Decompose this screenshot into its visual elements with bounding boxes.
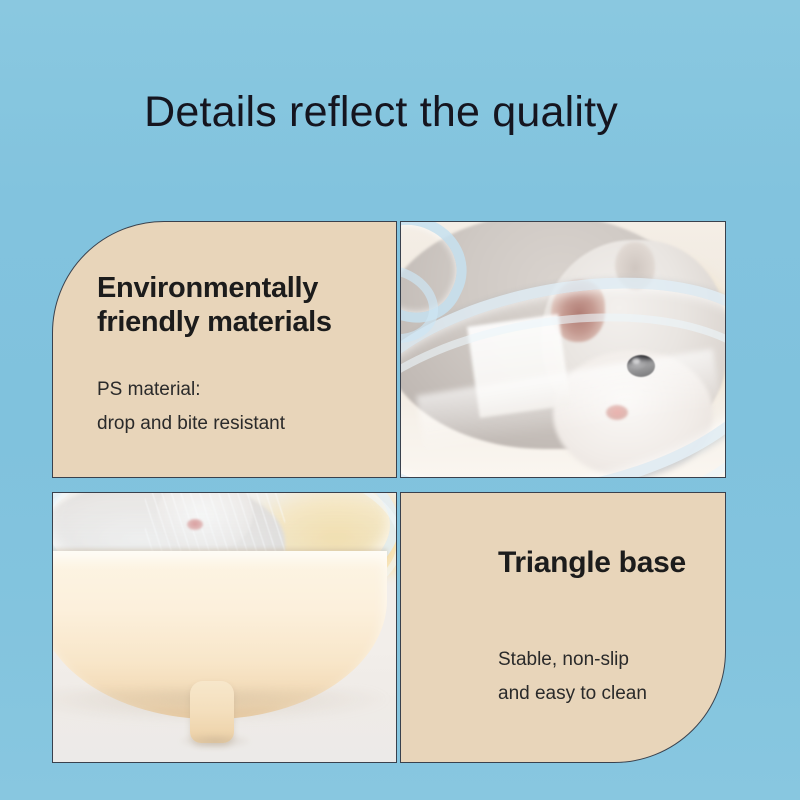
feature-panel-grid: Environmentally friendly materials PS ma… bbox=[52, 221, 726, 763]
panel-environmentally-friendly-materials: Environmentally friendly materials PS ma… bbox=[52, 221, 397, 478]
panel-body-copy: PS material: drop and bite resistant bbox=[97, 373, 285, 441]
panel-base-photo bbox=[52, 492, 397, 763]
panel-body-copy: Stable, non-slip and easy to clean bbox=[498, 643, 647, 711]
panel-hamster-photo bbox=[400, 221, 726, 478]
body-line-2: drop and bite resistant bbox=[97, 407, 285, 441]
headline-line-1: Triangle base bbox=[498, 546, 686, 580]
panel-text-block: Environmentally friendly materials PS ma… bbox=[53, 222, 396, 477]
sand-bath-base-photo bbox=[53, 493, 396, 762]
product-feature-infographic: Details reflect the quality Environmenta… bbox=[0, 0, 800, 800]
body-line-2: and easy to clean bbox=[498, 677, 647, 711]
foot-shadow bbox=[179, 733, 251, 749]
panel-headline: Triangle base bbox=[498, 546, 686, 580]
panel-triangle-base: Triangle base Stable, non-slip and easy … bbox=[400, 492, 726, 763]
panel-text-block: Triangle base Stable, non-slip and easy … bbox=[401, 493, 725, 762]
hamster-in-sand-bath-photo bbox=[401, 222, 725, 477]
body-line-1: Stable, non-slip bbox=[498, 643, 647, 677]
headline-line-1: Environmentally bbox=[97, 271, 332, 305]
panel-headline: Environmentally friendly materials bbox=[97, 271, 332, 339]
headline-line-2: friendly materials bbox=[97, 305, 332, 339]
page-title: Details reflect the quality bbox=[0, 88, 762, 136]
body-line-1: PS material: bbox=[97, 373, 285, 407]
